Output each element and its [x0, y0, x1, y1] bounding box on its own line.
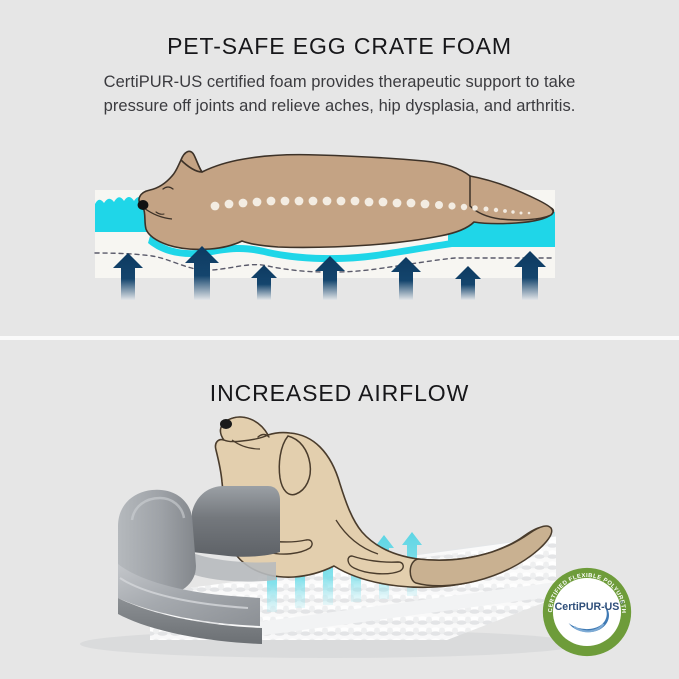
infographic-page: PET-SAFE EGG CRATE FOAM CertiPUR-US cert… — [0, 0, 679, 679]
bolster-back-cushion — [192, 486, 280, 557]
panel-egg-crate-foam: PET-SAFE EGG CRATE FOAM CertiPUR-US cert… — [0, 0, 679, 339]
dog-nose — [138, 200, 149, 210]
panel-increased-airflow: INCREASED AIRFLOW — [0, 340, 679, 679]
illustration-dog-on-foam-cutaway — [0, 0, 679, 339]
certipur-us-badge: CONTAINS CERTIFIED FLEXIBLE POLYURETHANE… — [541, 566, 633, 658]
badge-brand-text: CertiPUR-US — [555, 601, 620, 613]
dog-nose — [220, 419, 232, 429]
certipur-us-seal-graphic: CONTAINS CERTIFIED FLEXIBLE POLYURETHANE… — [541, 566, 633, 658]
